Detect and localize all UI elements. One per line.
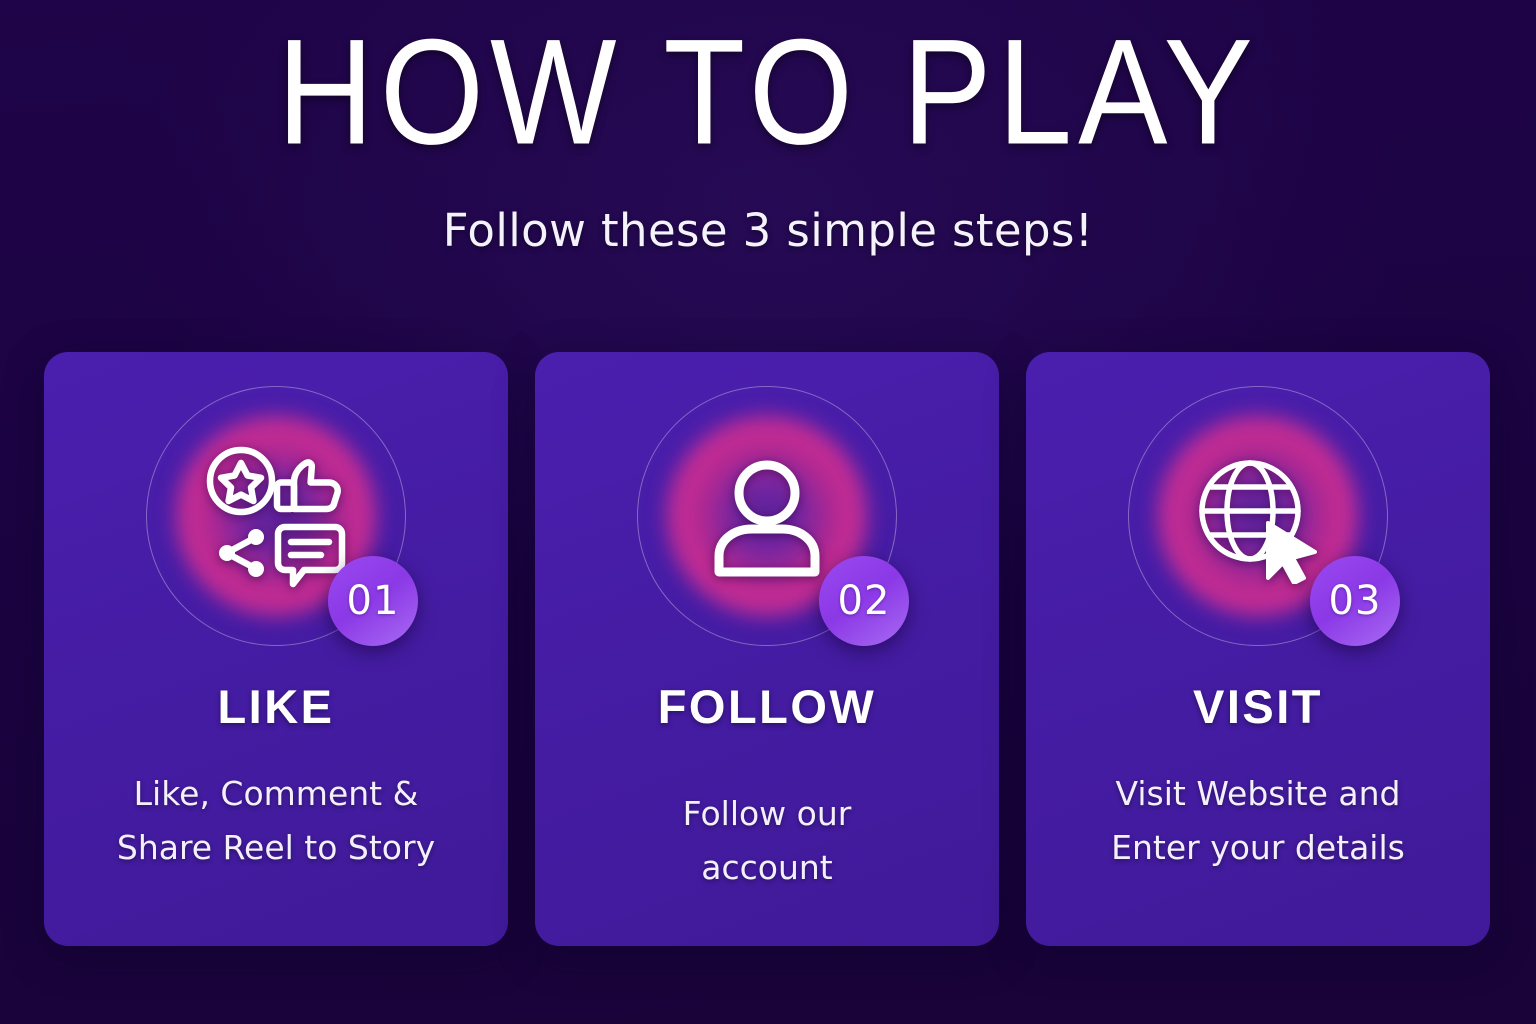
card-body: VISIT Visit Website and Enter your detai… <box>1026 682 1490 874</box>
badge-number: 01 <box>347 578 400 624</box>
share-icon <box>219 529 264 577</box>
step-badge-03: 03 <box>1310 556 1400 646</box>
badge-number: 02 <box>838 578 891 624</box>
icon-stage: 03 <box>1026 352 1490 682</box>
card-title: LIKE <box>70 682 482 731</box>
card-title: VISIT <box>1052 682 1464 731</box>
page-title: HOW TO PLAY <box>0 18 1536 168</box>
step-card-like[interactable]: 01 LIKE Like, Comment & Share Reel to St… <box>44 352 508 946</box>
desc-line-1: Follow our <box>561 787 973 840</box>
step-badge-02: 02 <box>819 556 909 646</box>
desc-line-2: Share Reel to Story <box>70 821 482 874</box>
card-description: Visit Website and Enter your details <box>1052 767 1464 874</box>
star-circle-icon <box>210 450 272 512</box>
desc-line-1: Visit Website and <box>1052 767 1464 820</box>
page-subtitle: Follow these 3 simple steps! <box>0 204 1536 257</box>
icon-stage: 02 <box>535 352 999 682</box>
desc-line-2: Enter your details <box>1052 821 1464 874</box>
card-description: Like, Comment & Share Reel to Story <box>70 767 482 874</box>
thumbs-up-icon <box>277 462 338 509</box>
card-body: LIKE Like, Comment & Share Reel to Story <box>44 682 508 874</box>
step-badge-01: 01 <box>328 556 418 646</box>
step-card-visit[interactable]: 03 VISIT Visit Website and Enter your de… <box>1026 352 1490 946</box>
badge-number: 03 <box>1329 578 1382 624</box>
card-title: FOLLOW <box>561 682 973 731</box>
card-description: Follow our account <box>561 787 973 894</box>
step-card-follow[interactable]: 02 FOLLOW Follow our account <box>535 352 999 946</box>
comment-bubble-icon <box>278 527 342 584</box>
steps-card-row: 01 LIKE Like, Comment & Share Reel to St… <box>44 352 1490 946</box>
desc-line-2: account <box>561 841 973 894</box>
card-body: FOLLOW Follow our account <box>535 682 999 894</box>
page-header: HOW TO PLAY Follow these 3 simple steps! <box>0 0 1536 257</box>
desc-line-1: Like, Comment & <box>70 767 482 820</box>
icon-stage: 01 <box>44 352 508 682</box>
user-person-icon <box>719 465 815 572</box>
